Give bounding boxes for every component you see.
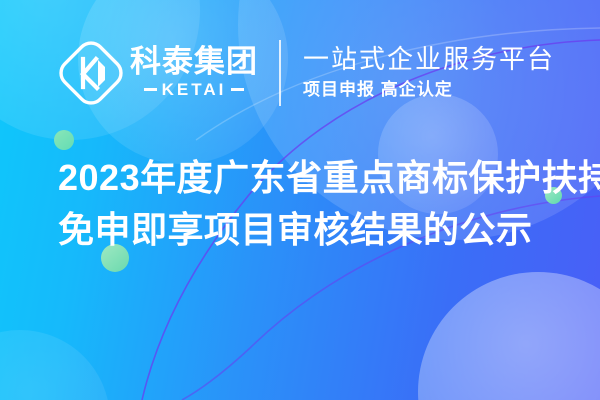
tagline-sub: 项目申报 高企认定: [303, 79, 555, 102]
logo-dash-left: [144, 88, 157, 91]
logo-chinese-name: 科泰集团: [130, 46, 258, 79]
ketai-diamond-kp-mark-icon: [58, 40, 124, 106]
banner-header: 科泰集团 KETAI 一站式企业服务平台 项目申报 高企认定: [0, 32, 600, 114]
tagline-main: 一站式企业服务平台: [303, 44, 555, 76]
page-title-line-1: 2023年度广东省重点商标保护扶持: [58, 152, 568, 204]
tagline-block: 一站式企业服务平台 项目申报 高企认定: [303, 44, 555, 102]
page-title-line-2: 免申即享项目审核结果的公示: [58, 204, 568, 256]
logo-dash-right: [231, 88, 244, 91]
brand-logo[interactable]: 科泰集团 KETAI: [58, 40, 258, 106]
announcement-banner: 科泰集团 KETAI 一站式企业服务平台 项目申报 高企认定 2023年度广东省…: [0, 0, 600, 400]
header-divider: [279, 40, 281, 106]
page-title: 2023年度广东省重点商标保护扶持 免申即享项目审核结果的公示: [58, 152, 568, 256]
decorative-dot-green-1: [54, 130, 74, 150]
logo-english-name: KETAI: [162, 80, 227, 100]
logo-english-row: KETAI: [144, 80, 245, 100]
